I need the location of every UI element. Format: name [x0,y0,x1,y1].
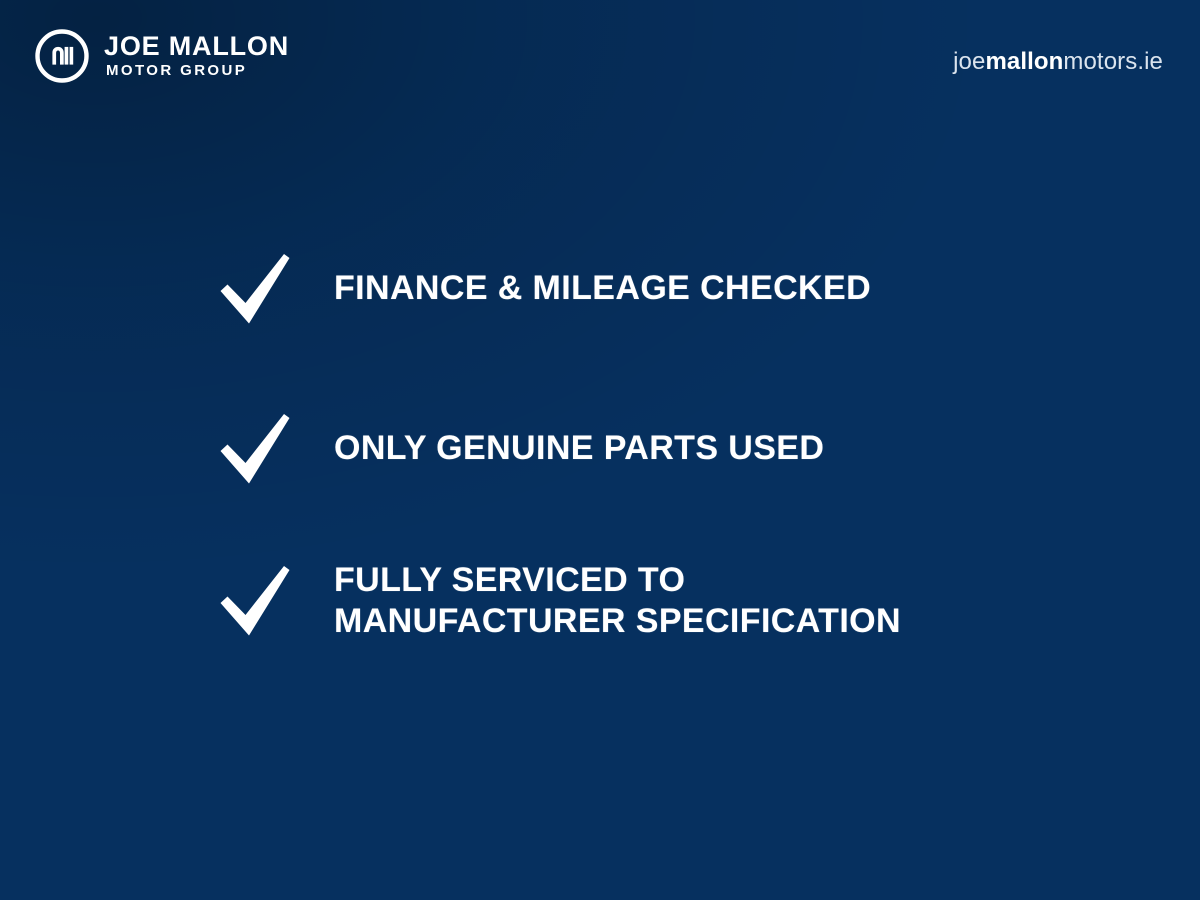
list-item-label: FULLY SERVICED TO MANUFACTURER SPECIFICA… [334,560,901,643]
list-item: FULLY SERVICED TO MANUFACTURER SPECIFICA… [218,555,1098,647]
url-emphasis: mallon [985,48,1063,75]
checkmark-icon [218,411,292,487]
url-suffix: motors.ie [1063,48,1163,75]
joe-mallon-circular-monogram-icon [34,28,90,84]
brand-name: JOE MALLON [104,33,289,61]
brand-lockup: JOE MALLON MOTOR GROUP [34,28,289,84]
checkmark-icon [218,251,292,327]
website-url: joemallonmotors.ie [953,48,1163,76]
list-item-label: FINANCE & MILEAGE CHECKED [334,268,871,309]
promise-checklist: FINANCE & MILEAGE CHECKED ONLY GENUINE P… [218,243,1098,647]
brand-wordmark: JOE MALLON MOTOR GROUP [104,31,289,80]
list-item: FINANCE & MILEAGE CHECKED [218,243,1098,335]
url-prefix: joe [953,48,985,75]
banner-header: JOE MALLON MOTOR GROUP joemallonmotors.i… [0,0,1200,118]
brand-subtitle: MOTOR GROUP [104,61,289,81]
list-item-label: ONLY GENUINE PARTS USED [334,428,824,469]
checkmark-icon [218,563,292,639]
promise-banner: JOE MALLON MOTOR GROUP joemallonmotors.i… [0,0,1200,900]
list-item: ONLY GENUINE PARTS USED [218,403,1098,495]
